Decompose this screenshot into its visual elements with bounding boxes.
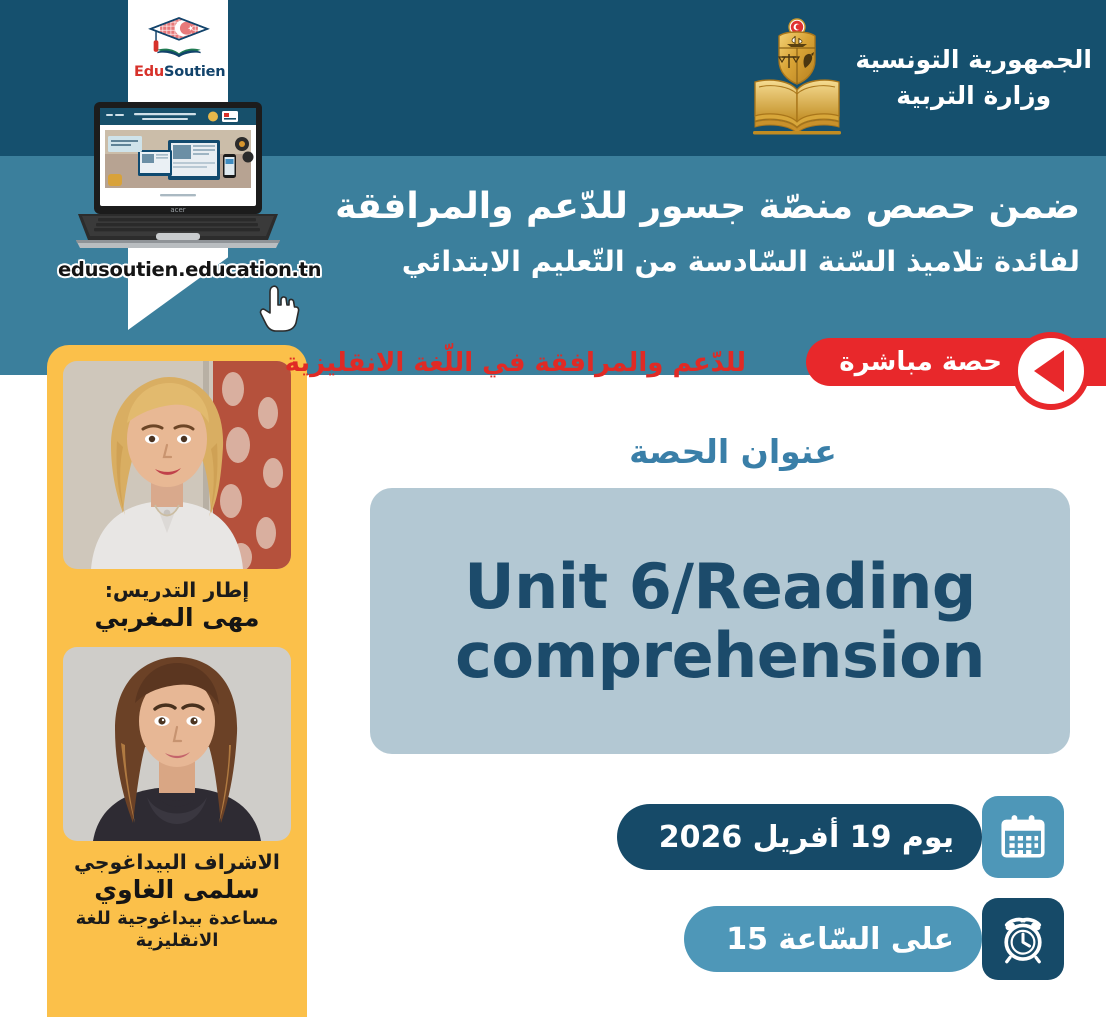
teacher-block-1: إطار التدريس: مهى المغربي (61, 361, 293, 633)
session-time-text: على السّاعة 15 (684, 906, 982, 972)
laptop-platform-preview-icon: acer (72, 100, 284, 250)
session-title-text: Unit 6/Reading comprehension (370, 552, 1070, 691)
teacher-sidebar: إطار التدريس: مهى المغربي (47, 345, 307, 1017)
ministry-country-line: الجمهورية التونسية (855, 42, 1092, 78)
session-title-label: عنوان الحصة (360, 432, 1106, 471)
session-announcement-poster: EduSoutien (0, 0, 1106, 1017)
teacher-role-2: الاشراف البيداغوجي (61, 850, 293, 874)
session-date-text: يوم 19 أفريل 2026 (617, 804, 982, 870)
teacher-portrait-icon (63, 361, 291, 569)
logo-edu-text: Edu (134, 64, 164, 80)
graduation-cap-tunisia-icon (145, 14, 213, 64)
heading-primary: ضمن حصص منصّة جسور للدّعم والمرافقة (320, 186, 1080, 227)
alarm-clock-glyph (997, 913, 1049, 965)
teacher-name-2: سلمى الغاوي (61, 875, 293, 905)
ministry-header: الجمهورية التونسية وزارة التربية (749, 18, 1092, 138)
heading-secondary: لفائدة تلاميذ السّنة السّادسة من التّعلي… (320, 246, 1080, 279)
teacher-subtitle-2: مساعدة بيداغوجية للغة الانقليزية (61, 908, 293, 952)
calendar-glyph (998, 812, 1048, 862)
ministry-department-line: وزارة التربية (855, 78, 1092, 114)
pointing-hand-cursor-icon (258, 283, 302, 333)
tunisia-ministry-of-education-emblem-icon (749, 18, 845, 138)
logo-soutien-text: Soutien (164, 64, 225, 80)
session-time-chip: على السّاعة 15 (702, 898, 1064, 980)
live-session-label: حصة مباشرة (839, 347, 1002, 377)
alarm-clock-icon (982, 898, 1064, 980)
teacher-name-1: مهى المغربي (61, 603, 293, 633)
session-title-box: Unit 6/Reading comprehension (370, 488, 1070, 754)
session-date-chip: يوم 19 أفريل 2026 (635, 796, 1064, 878)
subject-line: للدّعم والمرافقة في اللّغة الانقليزية (286, 348, 746, 378)
platform-url[interactable]: edusoutien.education.tn (58, 258, 320, 281)
supervisor-portrait-icon (63, 647, 291, 841)
svg-text:acer: acer (170, 206, 185, 214)
teacher-role-1: إطار التدريس: (61, 578, 293, 602)
calendar-icon (982, 796, 1064, 878)
play-button[interactable] (1012, 332, 1090, 410)
edusoutien-logo: EduSoutien (134, 14, 224, 92)
ministry-text: الجمهورية التونسية وزارة التربية (855, 42, 1092, 115)
logo-wordmark: EduSoutien (134, 65, 224, 80)
play-triangle-icon (1034, 350, 1064, 392)
teacher-block-2: الاشراف البيداغوجي سلمى الغاوي مساعدة بي… (61, 647, 293, 953)
